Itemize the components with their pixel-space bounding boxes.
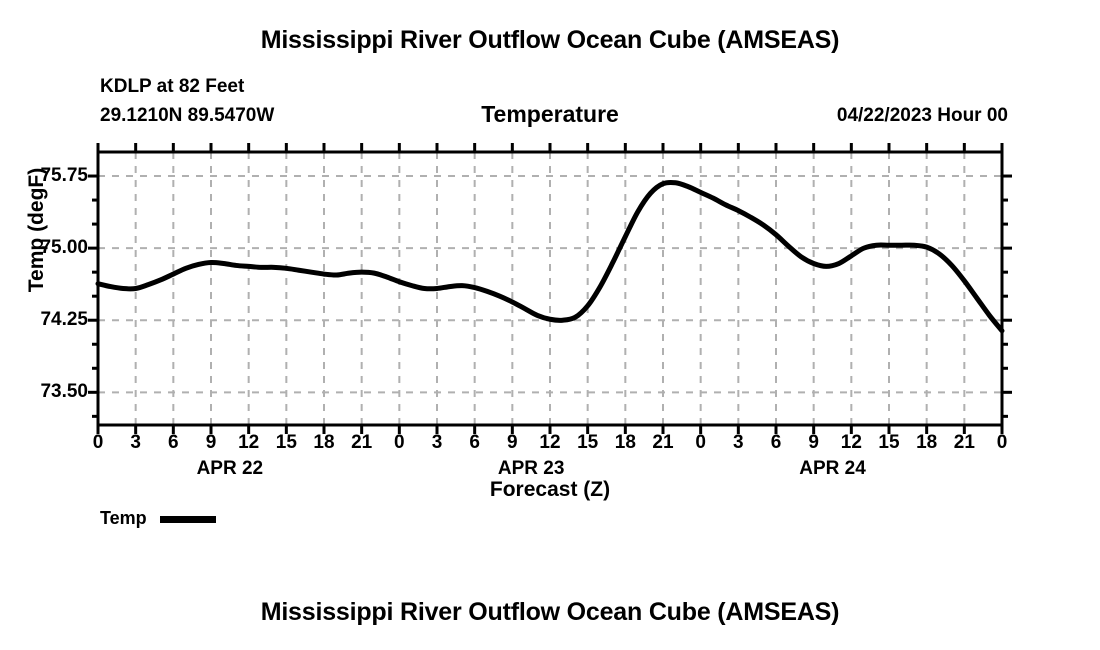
page-title-bottom: Mississippi River Outflow Ocean Cube (AM… (0, 598, 1100, 627)
chart-gridlines (98, 152, 1002, 425)
chart-page: Mississippi River Outflow Ocean Cube (AM… (0, 0, 1100, 650)
legend-series-label: Temp (100, 508, 147, 529)
legend-series-swatch (160, 516, 216, 523)
temperature-line-chart (0, 0, 1100, 650)
plot-frame (98, 152, 1002, 425)
